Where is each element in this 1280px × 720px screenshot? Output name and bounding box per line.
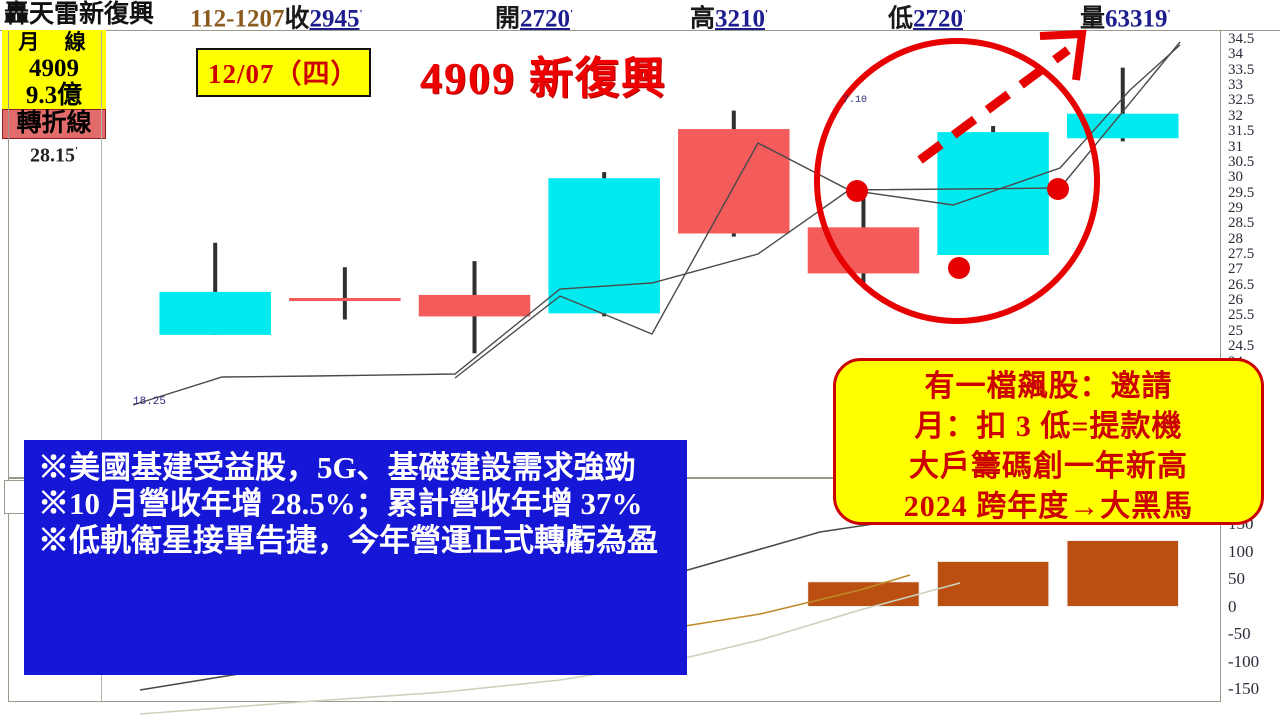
blue-note-line: ※10 月營收年增 28.5%；累計營收年增 37% <box>38 486 673 522</box>
candle-body-up <box>678 129 790 233</box>
candle-tag: 7.10 <box>843 95 867 106</box>
volume-bar <box>1067 541 1179 607</box>
volume-axis-tick: -50 <box>1228 624 1251 644</box>
date-badge: 12/07（四） <box>196 48 371 97</box>
candle-body-up <box>289 298 401 301</box>
volume-axis-tick: -150 <box>1228 679 1259 699</box>
yellow-note-line: 月：扣 3 低=提款機 <box>836 407 1261 447</box>
volume-axis-tick: 100 <box>1228 542 1254 562</box>
blue-note-line: ※低軌衛星接單告捷，今年營運正式轉虧為盈 <box>38 523 673 559</box>
yellow-note-line: 有一檔飆股：邀請 <box>836 367 1261 407</box>
page-title: 4909 新復興 <box>420 42 667 106</box>
candle-body-up <box>419 295 531 317</box>
candle-body-down <box>159 292 271 335</box>
candlestick-series <box>159 68 1178 354</box>
signal-dot-icon <box>846 180 868 202</box>
yellow-note-line: 2024 跨年度→大黑馬 <box>836 487 1261 527</box>
price-tag-low: 18.25 <box>133 396 166 408</box>
yellow-note-box: 有一檔飆股：邀請 月：扣 3 低=提款機 大戶籌碼創一年新高 2024 跨年度→… <box>833 358 1264 525</box>
volume-axis-tick: 0 <box>1228 597 1237 617</box>
volume-axis-tick: -100 <box>1228 652 1259 672</box>
blue-note-line: ※美國基建受益股，5G、基礎建設需求強勁 <box>38 450 673 486</box>
candle-body-down <box>937 132 1049 255</box>
volume-bar-series <box>808 541 1179 607</box>
yellow-note-line: 大戶籌碼創一年新高 <box>836 447 1261 487</box>
volume-bar <box>808 582 920 607</box>
signal-dot-icon <box>948 257 970 279</box>
signal-dot-icon <box>1047 178 1069 200</box>
volume-axis-tick: 50 <box>1228 569 1245 589</box>
candle-body-down <box>548 178 660 313</box>
blue-note-box: ※美國基建受益股，5G、基礎建設需求強勁 ※10 月營收年增 28.5%；累計營… <box>24 440 687 675</box>
